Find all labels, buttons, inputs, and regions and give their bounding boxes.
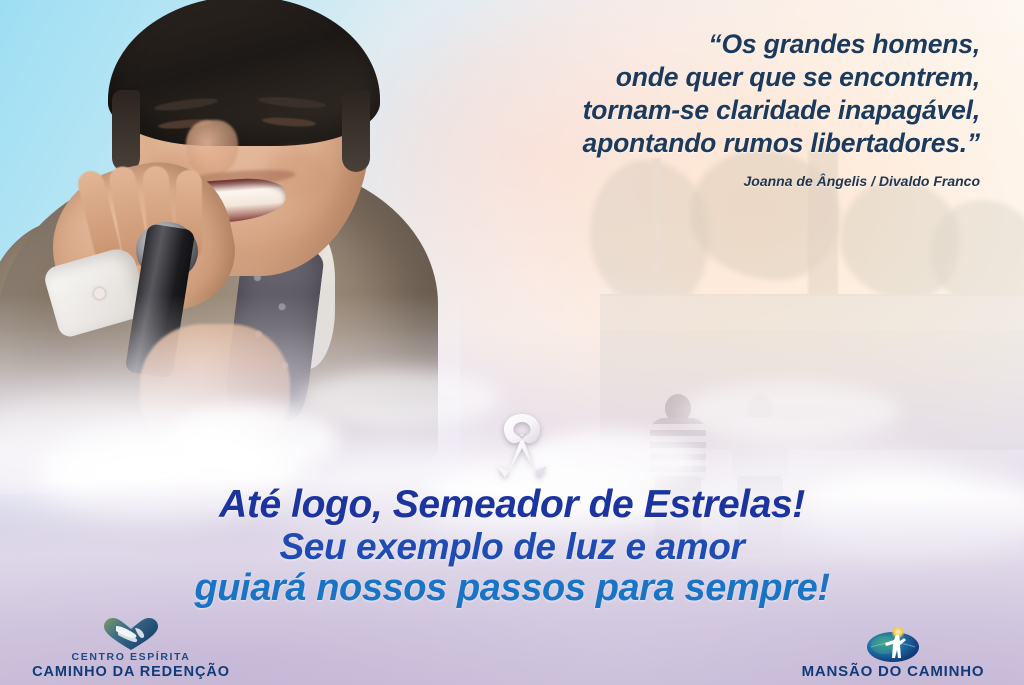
headline-line-2: Seu exemplo de luz e amor [0, 526, 1024, 567]
quote-line-1: “Os grandes homens, [420, 28, 980, 61]
heart-hands-icon [6, 617, 256, 651]
logo-centro-espirita: CENTRO ESPÍRITA CAMINHO DA REDENÇÃO [6, 617, 256, 681]
headline-block: Até logo, Semeador de Estrelas! Seu exem… [0, 484, 1024, 609]
logo-left-line-1: CENTRO ESPÍRITA [6, 651, 256, 664]
logo-mansao-do-caminho: MANSÃO DO CAMINHO [768, 629, 1018, 681]
globe-figure-light-icon [768, 629, 1018, 663]
logo-left-line-2: CAMINHO DA REDENÇÃO [6, 664, 256, 681]
logo-right-line-1: MANSÃO DO CAMINHO [768, 663, 1018, 681]
quote-block: “Os grandes homens, onde quer que se enc… [420, 28, 980, 189]
headline-line-1: Até logo, Semeador de Estrelas! [0, 484, 1024, 526]
quote-attribution: Joanna de Ângelis / Divaldo Franco [420, 173, 980, 189]
memorial-poster: “Os grandes homens, onde quer que se enc… [0, 0, 1024, 685]
headline-line-3: guiará nossos passos para sempre! [0, 567, 1024, 609]
white-awareness-ribbon-icon [487, 410, 557, 482]
quote-line-3: tornam-se claridade inapagável, [420, 94, 980, 127]
quote-line-2: onde quer que se encontrem, [420, 61, 980, 94]
quote-line-4: apontando rumos libertadores.” [420, 127, 980, 160]
